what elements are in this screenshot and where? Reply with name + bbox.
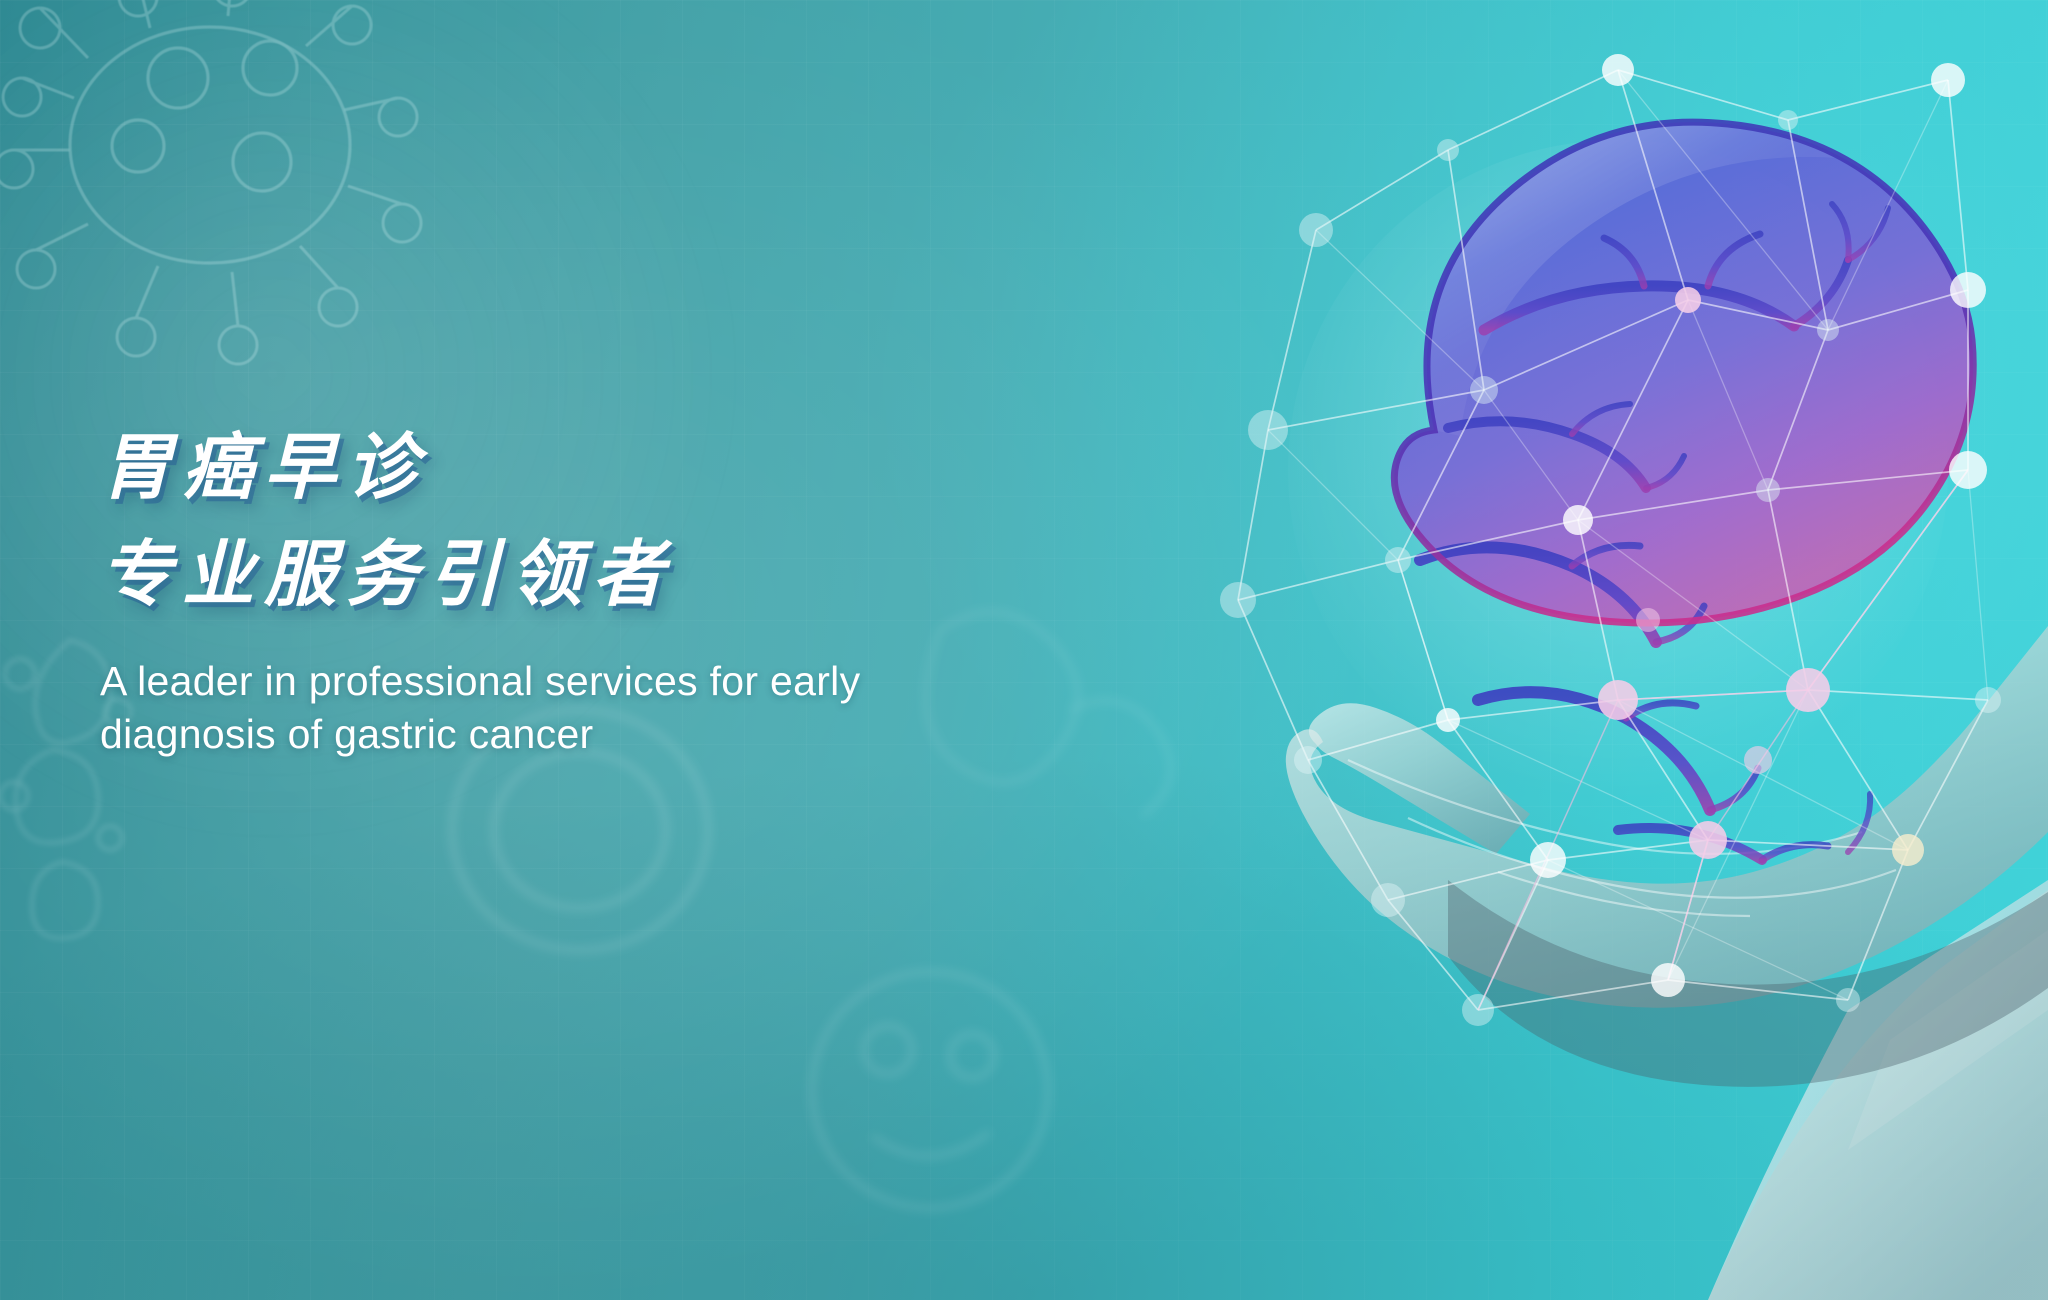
page-subtitle: A leader in professional services for ea… xyxy=(100,655,1100,762)
headline-line-2: 专业服务引领者 xyxy=(100,525,1100,624)
subtitle-line-2: diagnosis of gastric cancer xyxy=(100,708,1100,761)
headline-block: 胃癌早诊 专业服务引领者 A leader in professional se… xyxy=(100,418,1100,761)
banner-root: 胃癌早诊 专业服务引领者 A leader in professional se… xyxy=(0,0,2048,1300)
subtitle-line-1: A leader in professional services for ea… xyxy=(100,655,1100,708)
headline-line-1: 胃癌早诊 xyxy=(100,418,1100,517)
page-title: 胃癌早诊 专业服务引领者 xyxy=(100,418,1100,625)
